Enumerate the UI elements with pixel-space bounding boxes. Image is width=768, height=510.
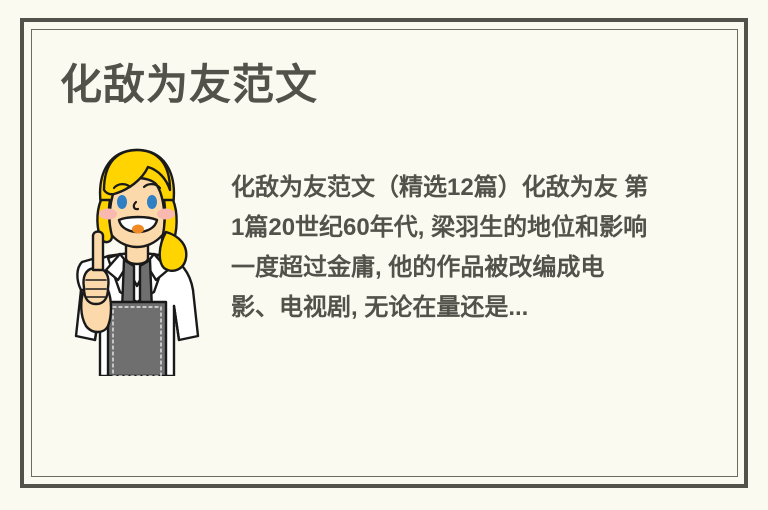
- woman-pointing-up-icon: [62, 140, 212, 376]
- woman-pointing-up-illustration: [62, 140, 212, 376]
- page-title: 化敌为友范文: [60, 62, 318, 108]
- article-summary: 化敌为友范文（精选12篇）化敌为友 第1篇20世纪60年代, 梁羽生的地位和影响…: [231, 168, 651, 328]
- article-card: 化敌为友范文: [0, 0, 768, 510]
